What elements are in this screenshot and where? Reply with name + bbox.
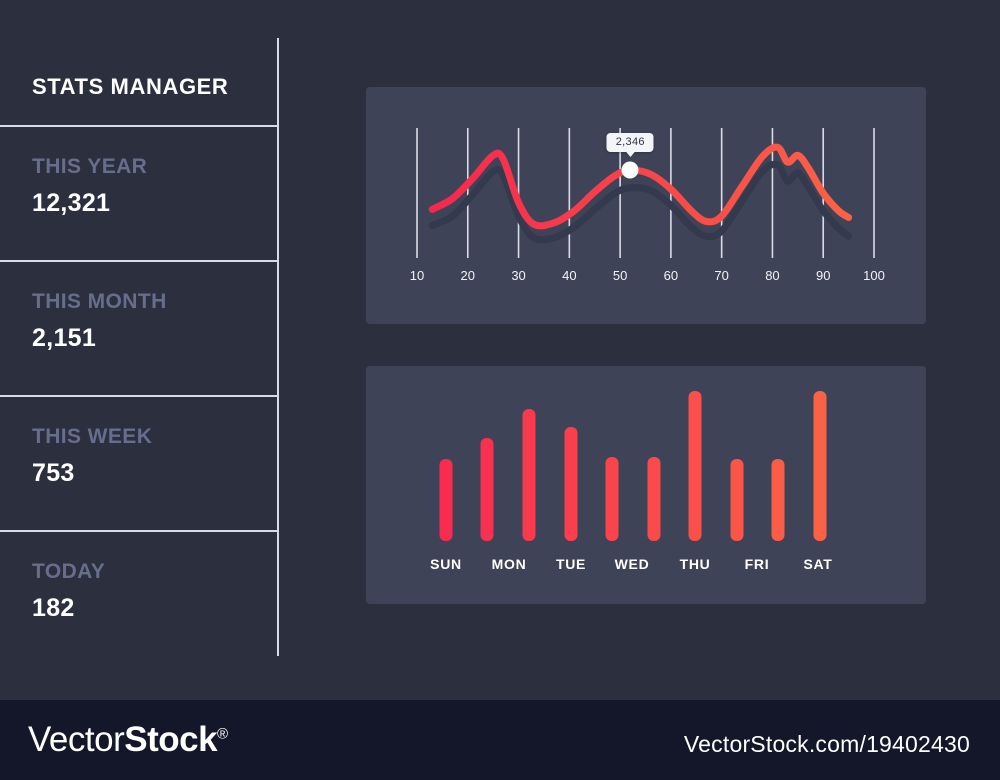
stat-label: THIS YEAR: [32, 155, 272, 179]
logo-text-bold: Stock: [124, 720, 217, 759]
stat-label: TODAY: [32, 560, 272, 584]
sidebar: STATS MANAGER THIS YEAR 12,321 THIS MONT…: [0, 0, 279, 700]
stat-value: 12,321: [32, 189, 272, 218]
bar[interactable]: [731, 459, 744, 542]
x-axis-tick-label: 20: [461, 268, 475, 283]
sidebar-vertical-divider: [277, 38, 279, 656]
x-axis-tick-label: 80: [765, 268, 779, 283]
line-series-secondary: [432, 164, 848, 239]
x-axis-tick-label: 60: [664, 268, 678, 283]
stat-value: 2,151: [32, 324, 272, 353]
stat-card-this-month[interactable]: THIS MONTH 2,151: [32, 290, 272, 353]
line-chart[interactable]: [366, 87, 926, 324]
registered-trademark-icon: ®: [217, 725, 228, 742]
x-axis-tick-label: 30: [511, 268, 525, 283]
stat-value: 753: [32, 459, 272, 488]
bar[interactable]: [606, 457, 619, 541]
bar[interactable]: [648, 457, 661, 541]
footer: VectorStock® VectorStock.com/19402430: [0, 700, 1000, 780]
dashboard-screen: STATS MANAGER THIS YEAR 12,321 THIS MONT…: [0, 0, 1000, 780]
bar[interactable]: [481, 438, 494, 542]
bar[interactable]: [523, 409, 536, 541]
stat-card-today[interactable]: TODAY 182: [32, 560, 272, 623]
sidebar-divider-4: [0, 530, 278, 532]
vectorstock-logo: VectorStock®: [28, 720, 228, 760]
bar[interactable]: [565, 427, 578, 541]
bar-category-label: SAT: [803, 556, 832, 572]
sidebar-divider-1: [0, 125, 278, 127]
bar-category-label: FRI: [745, 556, 770, 572]
stat-value: 182: [32, 594, 272, 623]
page-title: STATS MANAGER: [32, 74, 228, 100]
x-axis-tick-label: 10: [410, 268, 424, 283]
x-axis-tick-label: 100: [863, 268, 885, 283]
bar[interactable]: [689, 391, 702, 541]
stat-card-this-week[interactable]: THIS WEEK 753: [32, 425, 272, 488]
footer-url: VectorStock.com/19402430: [684, 731, 970, 758]
sidebar-divider-3: [0, 395, 278, 397]
bar[interactable]: [814, 391, 827, 541]
bar[interactable]: [440, 459, 453, 542]
stat-label: THIS MONTH: [32, 290, 272, 314]
bar-category-label: SUN: [430, 556, 462, 572]
data-point-tooltip: 2,346: [607, 133, 654, 152]
x-axis-tick-label: 70: [714, 268, 728, 283]
x-axis-tick-label: 90: [816, 268, 830, 283]
logo-text-light: Vector: [28, 720, 124, 759]
bar-chart: [366, 391, 926, 541]
line-chart-panel: 102030405060708090100 2,346: [366, 87, 926, 324]
sidebar-divider-2: [0, 260, 278, 262]
stat-label: THIS WEEK: [32, 425, 272, 449]
bar-category-label: TUE: [556, 556, 586, 572]
bar-category-label: MON: [492, 556, 527, 572]
selected-data-point[interactable]: [622, 162, 639, 179]
x-axis-tick-label: 50: [613, 268, 627, 283]
bar-category-label: THU: [680, 556, 711, 572]
bar-chart-panel: SUNMONTUEWEDTHUFRISAT: [366, 366, 926, 604]
stat-card-this-year[interactable]: THIS YEAR 12,321: [32, 155, 272, 218]
bar[interactable]: [772, 459, 785, 542]
x-axis-tick-label: 40: [562, 268, 576, 283]
bar-category-label: WED: [615, 556, 650, 572]
